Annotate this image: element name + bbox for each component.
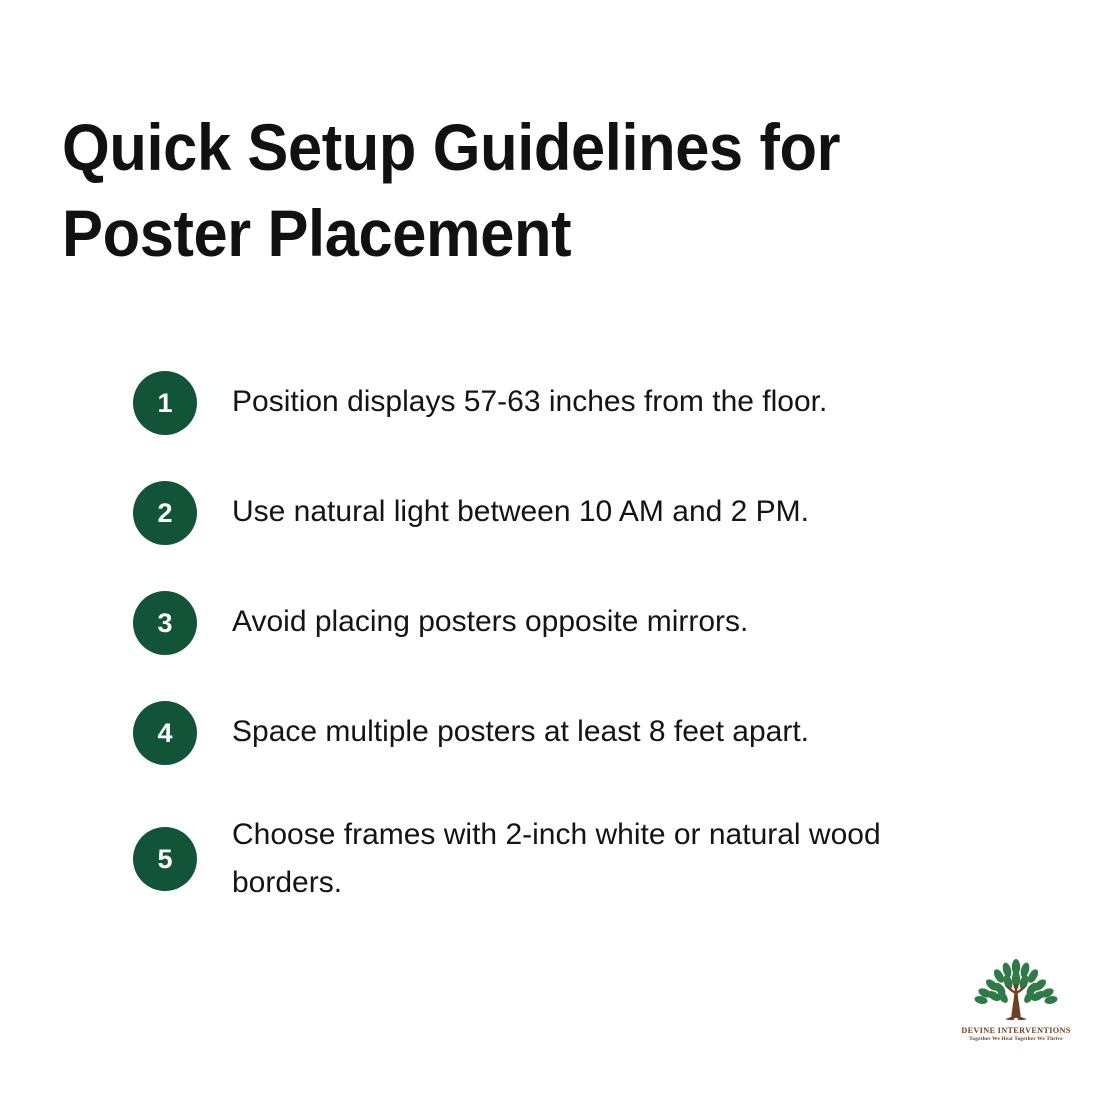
guideline-text: Choose frames with 2-inch white or natur…	[232, 811, 967, 907]
guideline-number-badge: 3	[133, 591, 197, 655]
page-title-line-1: Quick Setup Guidelines for	[62, 104, 936, 190]
guideline-number-badge: 2	[133, 481, 197, 545]
guideline-text: Space multiple posters at least 8 feet a…	[232, 701, 967, 756]
poster-canvas: Quick Setup Guidelines for Poster Placem…	[0, 0, 1120, 1106]
tree-logo-icon	[970, 958, 1062, 1024]
guideline-list: 1 Position displays 57-63 inches from th…	[133, 371, 1033, 907]
guideline-number-badge: 5	[133, 827, 197, 891]
list-item: 5 Choose frames with 2-inch white or nat…	[133, 811, 1033, 907]
guideline-number-badge: 1	[133, 371, 197, 435]
logo-tagline: Together We Heal Together We Thrive	[958, 1036, 1074, 1042]
guideline-text: Use natural light between 10 AM and 2 PM…	[232, 481, 967, 536]
guideline-number-badge: 4	[133, 701, 197, 765]
list-item: 1 Position displays 57-63 inches from th…	[133, 371, 1033, 435]
logo-wordmark: DEVINE INTERVENTIONS	[958, 1026, 1074, 1035]
guideline-text: Position displays 57-63 inches from the …	[232, 371, 967, 426]
brand-logo: DEVINE INTERVENTIONS Together We Heal To…	[958, 958, 1074, 1042]
list-item: 3 Avoid placing posters opposite mirrors…	[133, 591, 1033, 655]
list-item: 4 Space multiple posters at least 8 feet…	[133, 701, 1033, 765]
page-title-line-2: Poster Placement	[62, 190, 936, 276]
guideline-text: Avoid placing posters opposite mirrors.	[232, 591, 967, 646]
list-item: 2 Use natural light between 10 AM and 2 …	[133, 481, 1033, 545]
page-title: Quick Setup Guidelines for Poster Placem…	[62, 104, 1002, 276]
